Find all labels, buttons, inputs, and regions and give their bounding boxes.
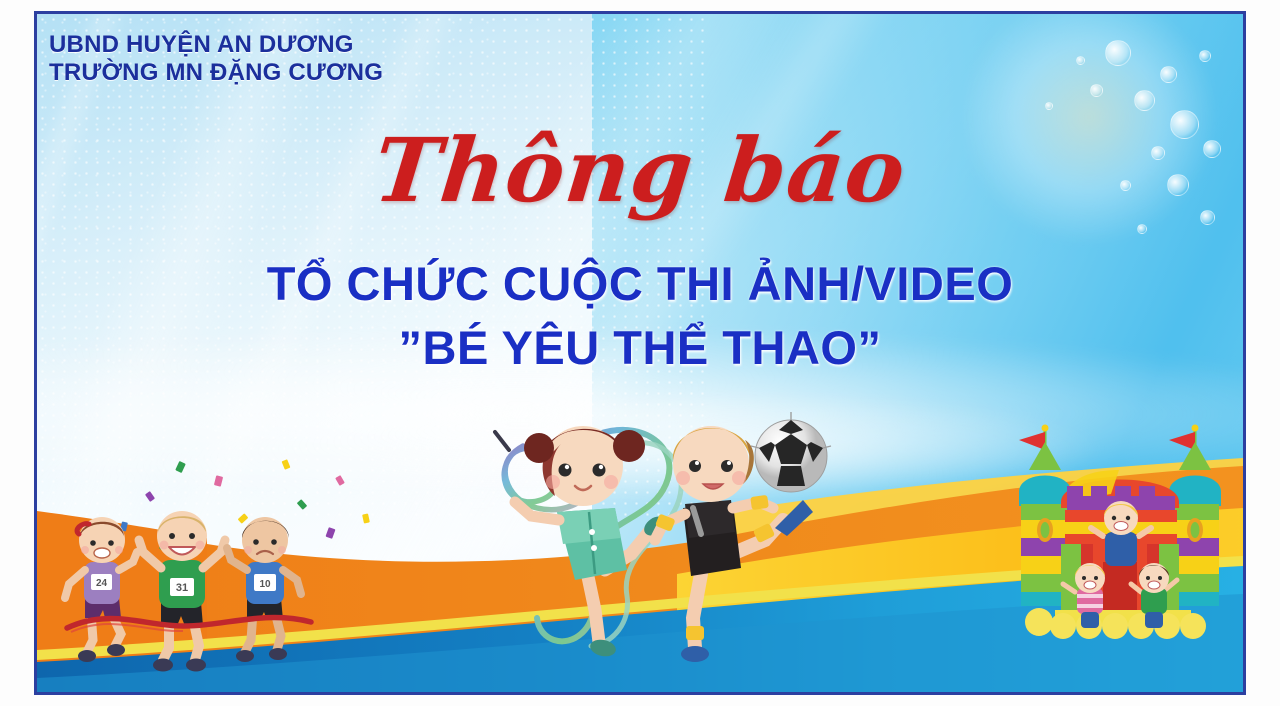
runner-child-1: 24 [65,517,137,662]
organization-line-2: TRƯỜNG MN ĐẶNG CƯƠNG [49,59,383,87]
headline-thong-bao: Thông báo [37,126,1243,214]
runner-child-2: 31 [139,511,225,672]
organization-line-1: UBND HUYỆN AN DƯƠNG [49,31,383,59]
center-children-illustration [479,404,839,679]
poster-frame: 24 [34,11,1246,695]
runner-child-3: 10 [227,517,301,662]
hair-bun-right [613,430,645,462]
runner-bib-number-1: 24 [96,578,108,589]
organization-block: UBND HUYỆN AN DƯƠNG TRƯỜNG MN ĐẶNG CƯƠNG [49,31,383,87]
runners-illustration: 24 [49,500,339,682]
poster-canvas: 24 [37,14,1243,692]
runner-bib-number-3: 10 [259,579,271,590]
subtitle-line-2: ”BÉ YÊU THỂ THAO” [37,324,1243,371]
bouncy-castle-illustration [999,412,1243,657]
soccer-ball [751,412,831,492]
castle-base [1025,608,1206,639]
hair-bun-left [524,433,554,463]
poster-root: 24 [0,0,1280,706]
subtitle-line-1: TỔ CHỨC CUỘC THI ẢNH/VIDEO [37,260,1243,307]
runner-bib-number-2: 31 [176,582,188,594]
